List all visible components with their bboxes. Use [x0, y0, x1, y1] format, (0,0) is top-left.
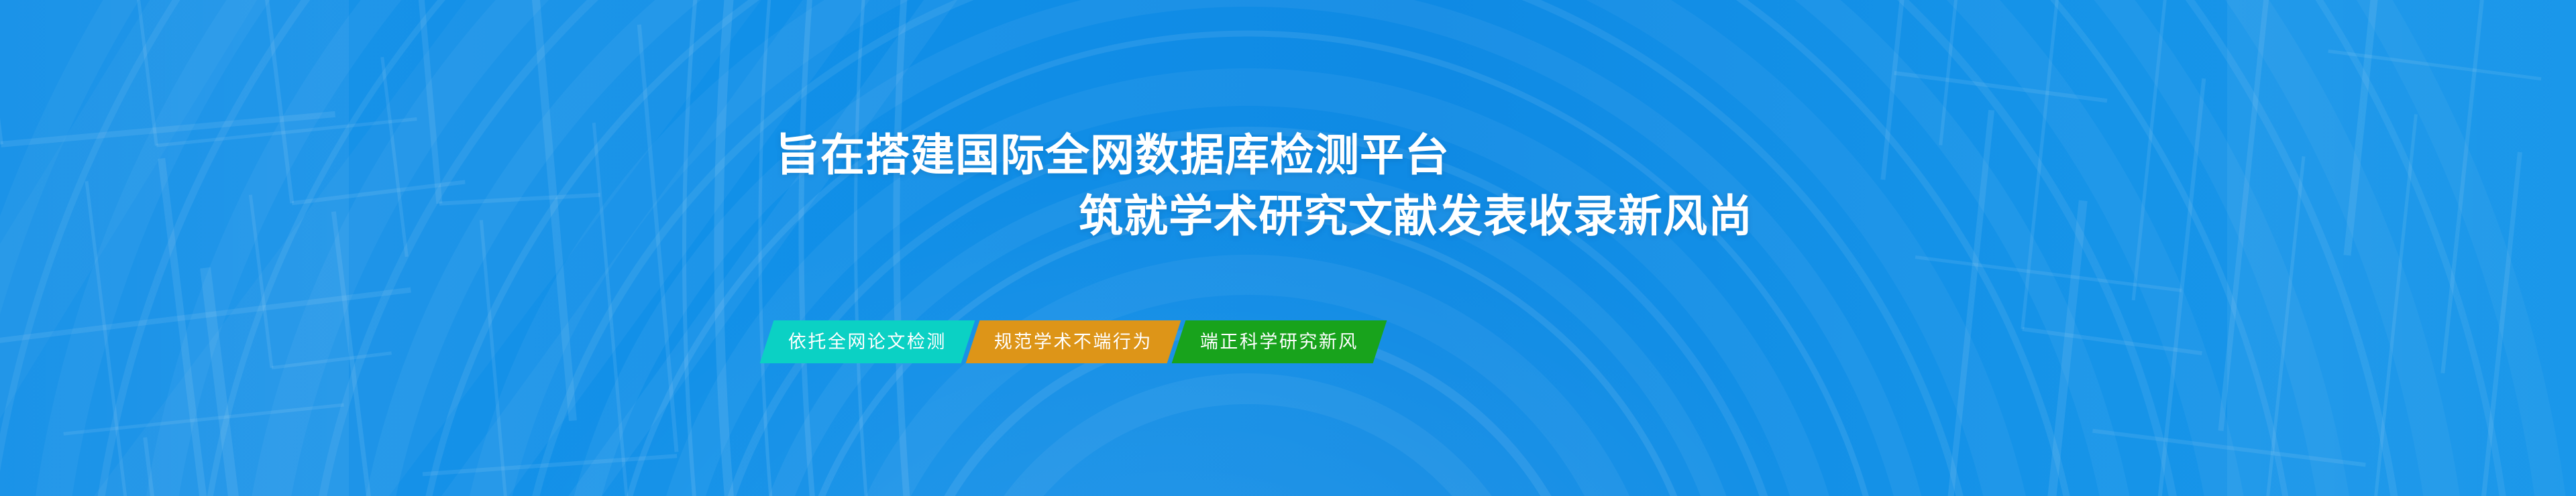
promotional-banner: 旨在搭建国际全网数据库检测平台 筑就学术研究文献发表收录新风尚 依托全网论文检测… — [0, 0, 2576, 496]
headline-line-2: 筑就学术研究文献发表收录新风尚 — [0, 192, 1851, 240]
feature-tag-detection-label: 依托全网论文检测 — [788, 333, 947, 351]
feature-tag-misconduct-label: 规范学术不端行为 — [994, 333, 1152, 351]
feature-tag-detection[interactable]: 依托全网论文检测 — [760, 320, 975, 363]
headline-block: 旨在搭建国际全网数据库检测平台 筑就学术研究文献发表收录新风尚 — [0, 131, 1851, 241]
feature-tag-integrity-label: 端正科学研究新风 — [1200, 333, 1358, 351]
feature-tag-integrity[interactable]: 端正科学研究新风 — [1172, 320, 1387, 363]
headline-line-1: 旨在搭建国际全网数据库检测平台 — [0, 131, 1851, 179]
feature-tag-misconduct[interactable]: 规范学术不端行为 — [966, 320, 1181, 363]
feature-tag-band: 依托全网论文检测 规范学术不端行为 端正科学研究新风 — [767, 320, 1380, 363]
banner-content: 旨在搭建国际全网数据库检测平台 筑就学术研究文献发表收录新风尚 依托全网论文检测… — [0, 0, 2576, 496]
